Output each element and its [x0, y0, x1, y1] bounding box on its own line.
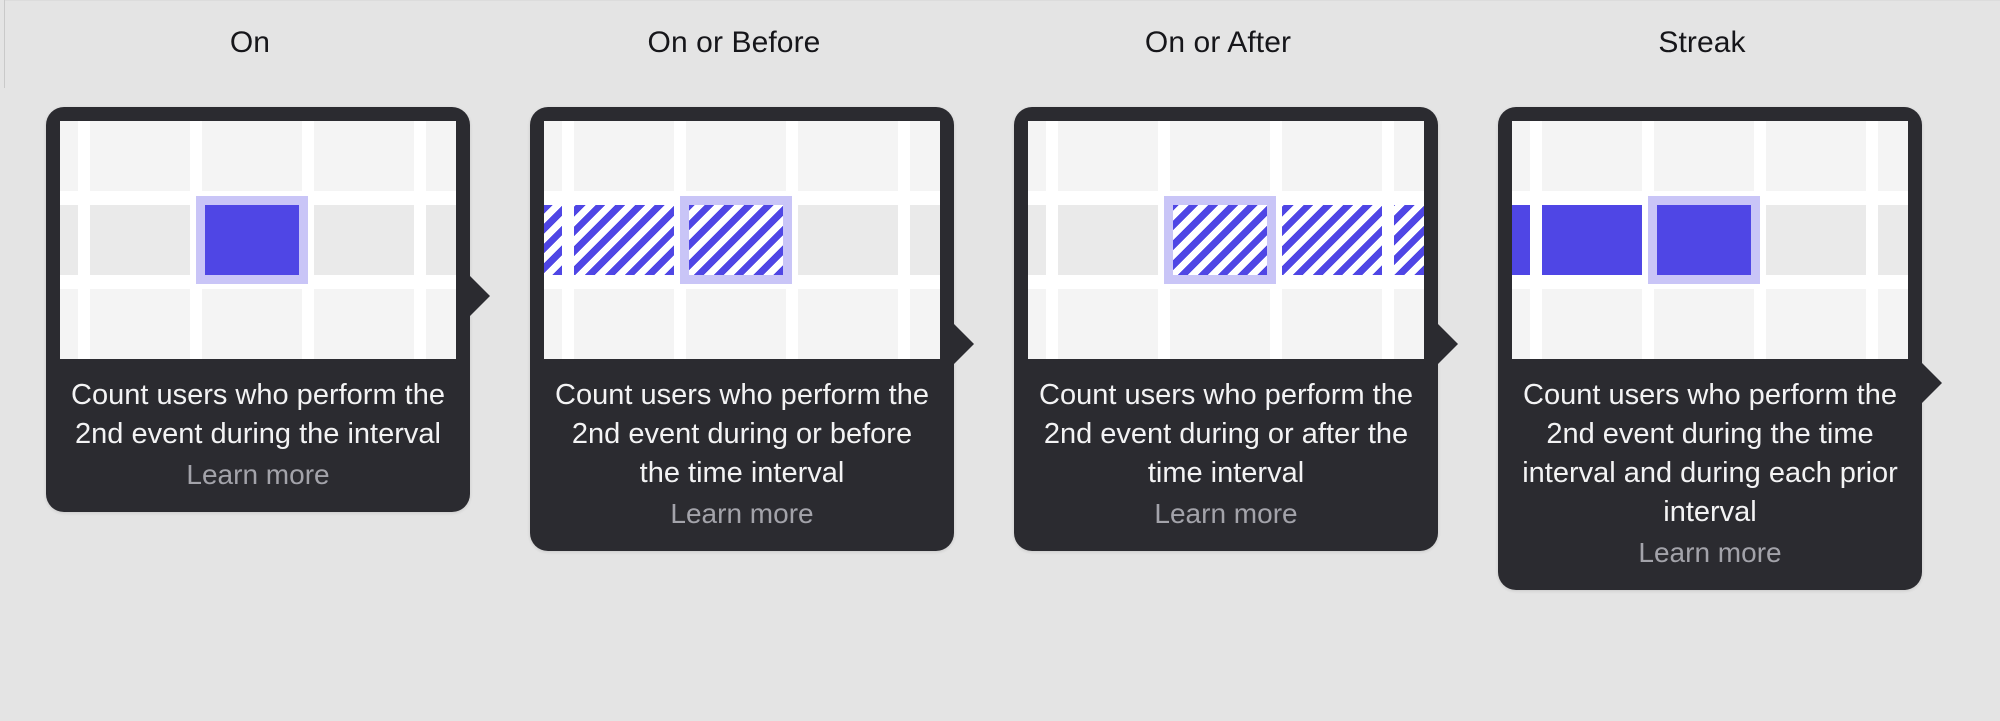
- grid-cell: [1878, 121, 1908, 191]
- card-wrap-on-or-before: Count users who perform the 2nd event du…: [530, 107, 954, 551]
- column-title-on-or-after: On or After: [968, 26, 1468, 60]
- learn-more-link-streak[interactable]: Learn more: [1512, 534, 1908, 572]
- grid-cell: [1028, 289, 1046, 359]
- learn-more-link-on-or-before[interactable]: Learn more: [544, 495, 940, 533]
- card-wrap-on-or-after: Count users who perform the 2nd event du…: [1014, 107, 1438, 551]
- tooltip-card-on-or-before: Count users who perform the 2nd event du…: [530, 107, 954, 551]
- grid-cell: [1394, 289, 1424, 359]
- event-bar-solid: [1542, 205, 1642, 275]
- tooltip-card-streak: Count users who perform the 2nd event du…: [1498, 107, 1922, 590]
- grid-cell: [1542, 289, 1642, 359]
- grid-cell: [1512, 289, 1530, 359]
- grid-cell: [90, 205, 190, 275]
- grid-cell: [1394, 121, 1424, 191]
- column-title-streak: Streak: [1452, 26, 1952, 60]
- timeline-grid: [60, 121, 456, 359]
- grid-cell: [1878, 289, 1908, 359]
- event-bar-hatched: [1282, 205, 1382, 275]
- grid-cell: [798, 121, 898, 191]
- grid-cell: [1654, 289, 1754, 359]
- grid-cell: [686, 121, 786, 191]
- grid-cell: [574, 121, 674, 191]
- grid-cell: [1512, 121, 1530, 191]
- grid-cell: [1766, 289, 1866, 359]
- grid-cell: [426, 289, 456, 359]
- grid-cell: [60, 121, 78, 191]
- grid-cell: [1170, 121, 1270, 191]
- column-on-or-after: On or After: [968, 0, 1468, 60]
- grid-cell: [90, 121, 190, 191]
- grid-cell: [1058, 205, 1158, 275]
- card-wrap-on: Count users who perform the 2nd event du…: [46, 107, 470, 512]
- grid-cell: [1170, 205, 1270, 275]
- grid-cell: [544, 121, 562, 191]
- tooltip-tail-icon: [1437, 323, 1458, 365]
- grid-cell: [90, 289, 190, 359]
- comparison-card-row: On: [0, 0, 2000, 721]
- card-description-streak: Count users who perform the 2nd event du…: [1512, 376, 1908, 532]
- grid-cell: [1542, 121, 1642, 191]
- event-bar-hatched: [544, 205, 562, 275]
- grid-cell: [314, 205, 414, 275]
- card-description-on-or-after: Count users who perform the 2nd event du…: [1028, 376, 1424, 493]
- grid-cell: [1058, 121, 1158, 191]
- grid-cell: [1058, 289, 1158, 359]
- grid-cell: [314, 121, 414, 191]
- tooltip-tail-icon: [1921, 362, 1942, 404]
- card-wrap-streak: Count users who perform the 2nd event du…: [1498, 107, 1922, 590]
- grid-cell: [1028, 205, 1046, 275]
- diagram-streak: [1512, 121, 1908, 359]
- grid-cell: [798, 205, 898, 275]
- grid-cell: [1766, 121, 1866, 191]
- grid-cell: [1282, 289, 1382, 359]
- grid-cell: [910, 289, 940, 359]
- grid-cell: [1170, 289, 1270, 359]
- column-title-on-or-before: On or Before: [484, 26, 984, 60]
- learn-more-link-on[interactable]: Learn more: [60, 456, 456, 494]
- grid-cell: [910, 121, 940, 191]
- grid-cell: [686, 289, 786, 359]
- grid-cell: [910, 205, 940, 275]
- grid-cell: [1654, 121, 1754, 191]
- grid-cell: [1766, 205, 1866, 275]
- event-bar-hatched: [1394, 205, 1424, 275]
- grid-cell: [1878, 205, 1908, 275]
- tooltip-card-on: Count users who perform the 2nd event du…: [46, 107, 470, 512]
- event-bar-solid: [1512, 205, 1530, 275]
- grid-cell: [60, 205, 78, 275]
- diagram-on-or-after: [1028, 121, 1424, 359]
- event-bar-hatched: [574, 205, 674, 275]
- grid-cell: [1028, 121, 1046, 191]
- card-description-on: Count users who perform the 2nd event du…: [60, 376, 456, 454]
- column-streak: Streak: [1452, 0, 1952, 60]
- grid-cell: [686, 205, 786, 275]
- diagram-on: [60, 121, 456, 359]
- column-on: On: [0, 0, 500, 60]
- grid-cell: [574, 289, 674, 359]
- diagram-on-or-before: [544, 121, 940, 359]
- learn-more-link-on-or-after[interactable]: Learn more: [1028, 495, 1424, 533]
- column-on-or-before: On or Before: [484, 0, 984, 60]
- grid-cell: [1654, 205, 1754, 275]
- tooltip-tail-icon: [469, 275, 490, 317]
- grid-cell: [1282, 121, 1382, 191]
- grid-cell: [798, 289, 898, 359]
- grid-cell: [202, 289, 302, 359]
- tooltip-tail-icon: [953, 323, 974, 365]
- card-description-on-or-before: Count users who perform the 2nd event du…: [544, 376, 940, 493]
- grid-cell: [426, 205, 456, 275]
- grid-cell: [202, 121, 302, 191]
- column-title-on: On: [0, 26, 500, 60]
- grid-cell: [426, 121, 456, 191]
- grid-cell: [544, 289, 562, 359]
- tooltip-card-on-or-after: Count users who perform the 2nd event du…: [1014, 107, 1438, 551]
- grid-cell: [314, 289, 414, 359]
- grid-cell: [60, 289, 78, 359]
- grid-cell: [202, 205, 302, 275]
